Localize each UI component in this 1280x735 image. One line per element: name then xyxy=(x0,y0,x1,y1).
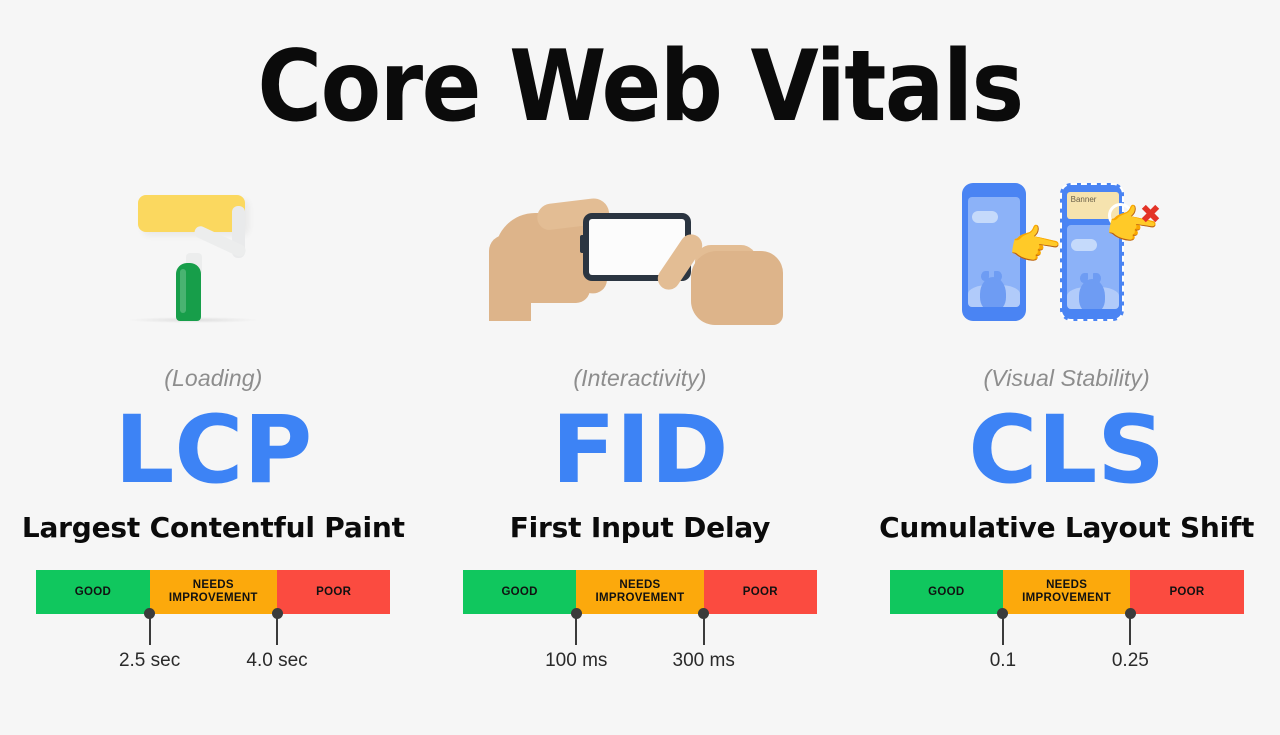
rating-bar: GOOD NEEDS IMPROVEMENT POOR xyxy=(463,570,817,614)
rating-segment-good: GOOD xyxy=(890,570,1003,614)
metric-fullname-fid: First Input Delay xyxy=(510,511,771,544)
threshold-bar-cls: GOOD NEEDS IMPROVEMENT POOR 0.1 0.25 xyxy=(890,570,1244,685)
rating-segment-needs-improvement: NEEDS IMPROVEMENT xyxy=(1003,570,1130,614)
rating-segment-good: GOOD xyxy=(463,570,576,614)
cloud-shape xyxy=(1071,239,1097,251)
threshold-label: 2.5 sec xyxy=(119,650,180,672)
rating-segment-poor: POOR xyxy=(1130,570,1243,614)
threshold-stem xyxy=(149,616,151,645)
hand-tapping-phone-icon xyxy=(495,195,785,325)
paint-roller-icon xyxy=(128,175,298,325)
rating-segment-good: GOOD xyxy=(36,570,149,614)
icon-area-lcp xyxy=(0,170,427,325)
threshold-stem xyxy=(1002,616,1004,645)
cloud-shape xyxy=(972,211,998,223)
roller-pad xyxy=(138,195,245,232)
threshold-stem xyxy=(703,616,705,645)
metric-column-fid: (Interactivity) FID First Input Delay GO… xyxy=(427,170,854,685)
rating-segment-poor: POOR xyxy=(704,570,817,614)
phone-side-button xyxy=(580,235,584,253)
threshold-label: 4.0 sec xyxy=(246,650,307,672)
metric-acronym-cls: CLS xyxy=(968,406,1165,495)
rating-segment-needs-improvement: NEEDS IMPROVEMENT xyxy=(150,570,277,614)
threshold-stem xyxy=(575,616,577,645)
threshold-label: 300 ms xyxy=(673,650,735,672)
right-hand-palm xyxy=(691,251,783,325)
threshold-stem xyxy=(276,616,278,645)
metrics-columns: (Loading) LCP Largest Contentful Paint G… xyxy=(0,170,1280,685)
error-cross-icon: ✖ xyxy=(1140,201,1162,227)
page-title: Core Web Vitals xyxy=(0,36,1280,139)
threshold-label: 0.25 xyxy=(1112,650,1149,672)
rating-segment-poor: POOR xyxy=(277,570,390,614)
icon-area-cls: 👉 Banner 👉 ✖ xyxy=(853,170,1280,325)
infographic-root: Core Web Vitals (Loading) LCP Largest Co… xyxy=(0,0,1280,735)
layout-shift-phones-icon: 👉 Banner 👉 ✖ xyxy=(962,175,1172,325)
threshold-bar-fid: GOOD NEEDS IMPROVEMENT POOR 100 ms 300 m… xyxy=(463,570,817,685)
pointing-hand-icon-left: 👉 xyxy=(1005,220,1065,272)
threshold-label: 0.1 xyxy=(990,650,1016,672)
metric-acronym-lcp: LCP xyxy=(114,406,312,495)
metric-fullname-lcp: Largest Contentful Paint xyxy=(22,511,405,544)
threshold-label: 100 ms xyxy=(545,650,607,672)
threshold-stem xyxy=(1129,616,1131,645)
cat-illustration xyxy=(980,277,1006,307)
roller-grip-highlight xyxy=(180,269,186,313)
cat-illustration xyxy=(1079,279,1105,309)
metric-subtitle-cls: (Visual Stability) xyxy=(984,365,1150,392)
rating-segment-needs-improvement: NEEDS IMPROVEMENT xyxy=(576,570,703,614)
rating-bar: GOOD NEEDS IMPROVEMENT POOR xyxy=(36,570,390,614)
metric-fullname-cls: Cumulative Layout Shift xyxy=(879,511,1254,544)
metric-subtitle-lcp: (Loading) xyxy=(164,365,262,392)
threshold-bar-lcp: GOOD NEEDS IMPROVEMENT POOR 2.5 sec 4.0 … xyxy=(36,570,390,685)
icon-area-fid xyxy=(427,170,854,325)
metric-subtitle-fid: (Interactivity) xyxy=(573,365,706,392)
metric-column-lcp: (Loading) LCP Largest Contentful Paint G… xyxy=(0,170,427,685)
metric-acronym-fid: FID xyxy=(551,406,728,495)
metric-column-cls: 👉 Banner 👉 ✖ (Visual Stability) C xyxy=(853,170,1280,685)
rating-bar: GOOD NEEDS IMPROVEMENT POOR xyxy=(890,570,1244,614)
